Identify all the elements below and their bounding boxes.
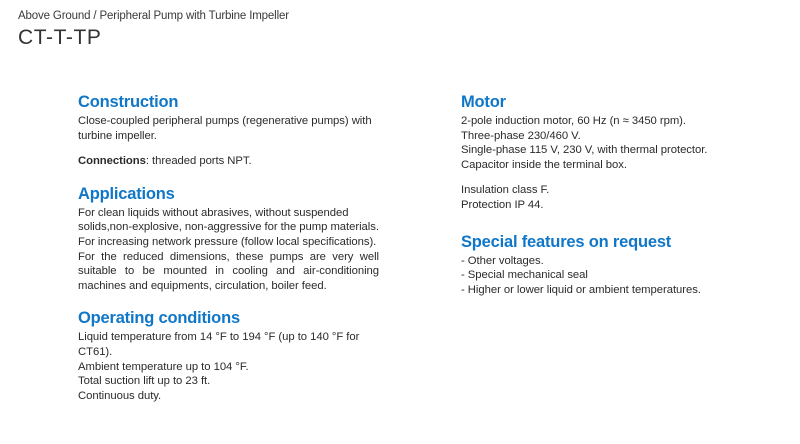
connections-label: Connections xyxy=(78,155,146,167)
section-operating-conditions: Operating conditions Liquid temperature … xyxy=(78,309,379,403)
motor-line-6: Protection IP 44. xyxy=(461,198,761,213)
operating-conditions-text: Liquid temperature from 14 °F to 194 °F … xyxy=(78,330,379,403)
special-features-item-3: - Higher or lower liquid or ambient temp… xyxy=(461,283,761,298)
construction-connections: Connections: threaded ports NPT. xyxy=(78,154,379,169)
motor-specs-secondary: Insulation class F. Protection IP 44. xyxy=(461,183,761,212)
applications-line-3: For increasing network pressure (follow … xyxy=(78,235,379,250)
applications-line-2: solids,non-explosive, non-aggressive for… xyxy=(78,220,379,235)
operating-conditions-line-4: Continuous duty. xyxy=(78,389,379,404)
section-motor: Motor 2-pole induction motor, 60 Hz (n ≈… xyxy=(461,93,761,213)
section-heading-applications: Applications xyxy=(78,185,379,204)
construction-line-2: turbine impeller. xyxy=(78,129,379,144)
applications-line-6: machines and equipments, circulation, bo… xyxy=(78,279,379,294)
special-features-list: - Other voltages. - Special mechanical s… xyxy=(461,254,761,298)
motor-line-4: Capacitor inside the terminal box. xyxy=(461,158,761,173)
section-construction: Construction Close-coupled peripheral pu… xyxy=(78,93,379,169)
special-features-item-1: - Other voltages. xyxy=(461,254,761,269)
section-special-features: Special features on request - Other volt… xyxy=(461,233,761,298)
special-features-item-2: - Special mechanical seal xyxy=(461,268,761,283)
applications-text-block-a: For clean liquids without abrasives, wit… xyxy=(78,206,379,250)
left-column: Construction Close-coupled peripheral pu… xyxy=(78,93,379,403)
operating-conditions-line-3: Total suction lift up to 23 ft. xyxy=(78,374,379,389)
document-header: Above Ground / Peripheral Pump with Turb… xyxy=(18,9,618,50)
section-heading-motor: Motor xyxy=(461,93,761,112)
applications-line-1: For clean liquids without abrasives, wit… xyxy=(78,206,379,221)
motor-specs-primary: 2-pole induction motor, 60 Hz (n ≈ 3450 … xyxy=(461,114,761,172)
section-heading-construction: Construction xyxy=(78,93,379,112)
motor-line-3: Single-phase 115 V, 230 V, with thermal … xyxy=(461,143,761,158)
construction-line-1: Close-coupled peripheral pumps (regenera… xyxy=(78,114,379,129)
construction-description: Close-coupled peripheral pumps (regenera… xyxy=(78,114,379,143)
motor-line-2: Three-phase 230/460 V. xyxy=(461,129,761,144)
operating-conditions-line-2: Ambient temperature up to 104 °F. xyxy=(78,360,379,375)
section-applications: Applications For clean liquids without a… xyxy=(78,185,379,294)
document-subtitle: Above Ground / Peripheral Pump with Turb… xyxy=(18,9,618,23)
motor-line-5: Insulation class F. xyxy=(461,183,761,198)
operating-conditions-line-1: Liquid temperature from 14 °F to 194 °F … xyxy=(78,330,379,359)
applications-text-block-b: For the reduced dimensions, these pumps … xyxy=(78,250,379,294)
document-model-code: CT-T-TP xyxy=(18,25,618,50)
right-column: Motor 2-pole induction motor, 60 Hz (n ≈… xyxy=(461,93,761,297)
motor-line-1: 2-pole induction motor, 60 Hz (n ≈ 3450 … xyxy=(461,114,761,129)
applications-line-5: suitable to be mounted in cooling and ai… xyxy=(78,264,379,279)
applications-line-4: For the reduced dimensions, these pumps … xyxy=(78,250,379,265)
connections-value: : threaded ports NPT. xyxy=(146,155,252,167)
section-heading-special-features: Special features on request xyxy=(461,233,761,252)
section-heading-operating-conditions: Operating conditions xyxy=(78,309,379,328)
